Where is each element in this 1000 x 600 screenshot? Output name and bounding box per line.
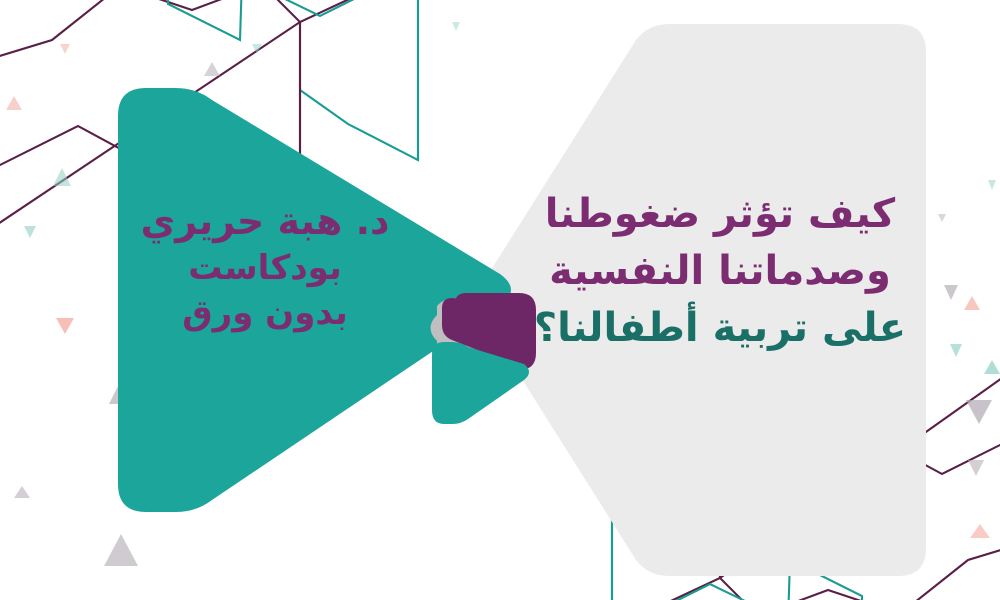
host-name: د. هبة حريري bbox=[105, 196, 425, 246]
title-line-1: كيف تؤثر ضغوطنا bbox=[520, 186, 920, 243]
podcast-title: بدون ورق bbox=[105, 291, 425, 336]
confetti-triangle-icon bbox=[740, 30, 756, 42]
host-name-block: د. هبة حريري بودكاست بدون ورق bbox=[105, 196, 425, 336]
confetti-triangle-icon bbox=[53, 168, 71, 186]
confetti-triangle-icon bbox=[60, 44, 70, 54]
confetti-triangle-icon bbox=[452, 22, 460, 31]
teal-zigzag-icon bbox=[168, 0, 418, 160]
confetti-triangle-icon bbox=[950, 344, 962, 357]
gray-arrow-logo-part bbox=[431, 298, 533, 384]
confetti-triangle-icon bbox=[964, 296, 980, 310]
title-line-3: على تربية أطفالنا؟ bbox=[520, 300, 920, 357]
plum-cross-line-mirror-icon bbox=[660, 344, 1000, 600]
title-line-2: وصدماتنا النفسية bbox=[520, 243, 920, 300]
outline-triangle-group-bottom-right bbox=[612, 344, 1000, 600]
confetti-triangle-icon bbox=[984, 360, 1000, 374]
confetti-triangle-icon bbox=[104, 534, 138, 566]
plum-zigzag-mirror-icon bbox=[720, 416, 1000, 600]
confetti-triangle-icon bbox=[24, 226, 36, 238]
confetti-triangle-icon bbox=[816, 552, 832, 564]
confetti-triangle-icon bbox=[56, 318, 74, 334]
confetti-triangle-icon bbox=[109, 386, 127, 404]
confetti-triangle-icon bbox=[970, 524, 990, 538]
confetti-triangle-icon bbox=[968, 460, 984, 476]
teal-play-triangle-logo-part bbox=[432, 342, 529, 424]
confetti-triangle-icon bbox=[252, 44, 262, 54]
confetti-triangle-icon bbox=[988, 180, 996, 190]
confetti-triangle-icon bbox=[966, 400, 992, 424]
promo-card: د. هبة حريري بودكاست بدون ورق كيف تؤثر ض… bbox=[0, 0, 1000, 600]
confetti-triangle-icon bbox=[204, 62, 220, 76]
episode-title-block: كيف تؤثر ضغوطنا وصدماتنا النفسية على ترب… bbox=[520, 186, 920, 356]
teal-zigzag-mirror-icon bbox=[612, 440, 862, 600]
confetti-triangle-icon bbox=[6, 96, 22, 110]
plum-zigzag-icon bbox=[0, 0, 300, 184]
confetti-triangle-icon bbox=[944, 285, 958, 300]
confetti-triangle-icon bbox=[14, 486, 30, 498]
confetti-triangle-icon bbox=[938, 214, 946, 222]
podcast-word: بودكاست bbox=[105, 246, 425, 291]
